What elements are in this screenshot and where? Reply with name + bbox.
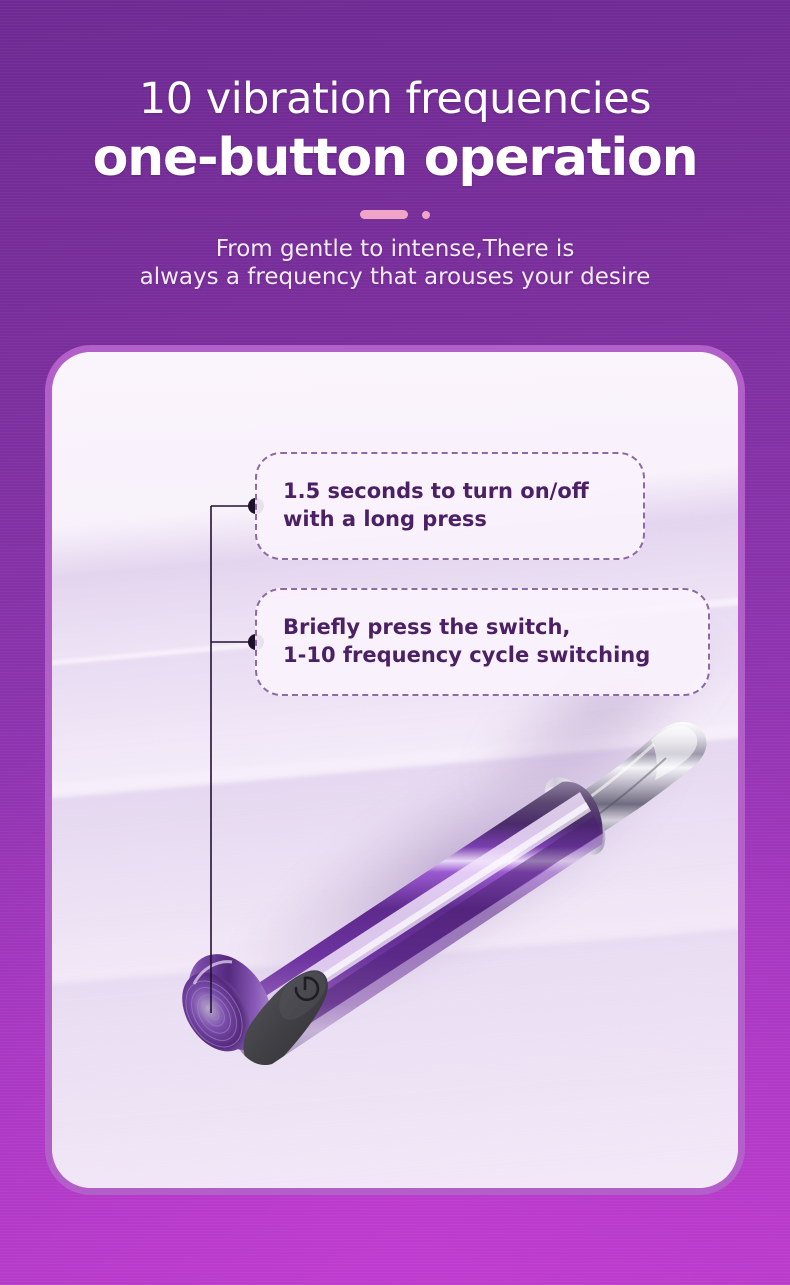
header-section: 10 vibration frequencies one-button oper… — [0, 0, 790, 291]
callout-short-press-text: Briefly press the switch, 1-10 frequency… — [283, 614, 650, 669]
callout-1-line-2: with a long press — [283, 506, 589, 534]
divider-dot — [422, 211, 430, 219]
callout-short-press[interactable]: Briefly press the switch, 1-10 frequency… — [255, 588, 710, 696]
product-collar — [533, 767, 618, 865]
product-body — [229, 782, 616, 1076]
divider-bar — [360, 210, 408, 219]
product-feature-infographic: 10 vibration frequencies one-button oper… — [0, 0, 790, 1285]
product-chrome-tip — [565, 722, 706, 836]
page-title-line-1: 10 vibration frequencies — [0, 0, 790, 121]
product-power-button-band — [244, 970, 328, 1070]
product-end-cap — [168, 939, 288, 1065]
ridged-texture — [174, 971, 253, 1058]
product-image-bullet-vibrator — [110, 684, 730, 1124]
callout-2-line-1: Briefly press the switch, — [283, 614, 650, 642]
callout-2-line-2: 1-10 frequency cycle switching — [283, 642, 650, 670]
power-icon — [296, 978, 318, 1000]
pill-and-dot-divider-icon — [360, 207, 430, 219]
product-shadow — [185, 663, 729, 1075]
backdrop-band-4 — [52, 921, 738, 1188]
backdrop-band-3 — [52, 730, 738, 1007]
callout-long-press-text: 1.5 seconds to turn on/off with a long p… — [283, 478, 589, 533]
page-subtitle: From gentle to intense,There is always a… — [75, 235, 715, 291]
callout-long-press[interactable]: 1.5 seconds to turn on/off with a long p… — [255, 452, 645, 560]
subtitle-line-1: From gentle to intense,There is — [75, 235, 715, 263]
page-title-line-2: one-button operation — [0, 121, 790, 184]
subtitle-line-2: always a frequency that arouses your des… — [75, 263, 715, 291]
callout-1-line-1: 1.5 seconds to turn on/off — [283, 478, 589, 506]
